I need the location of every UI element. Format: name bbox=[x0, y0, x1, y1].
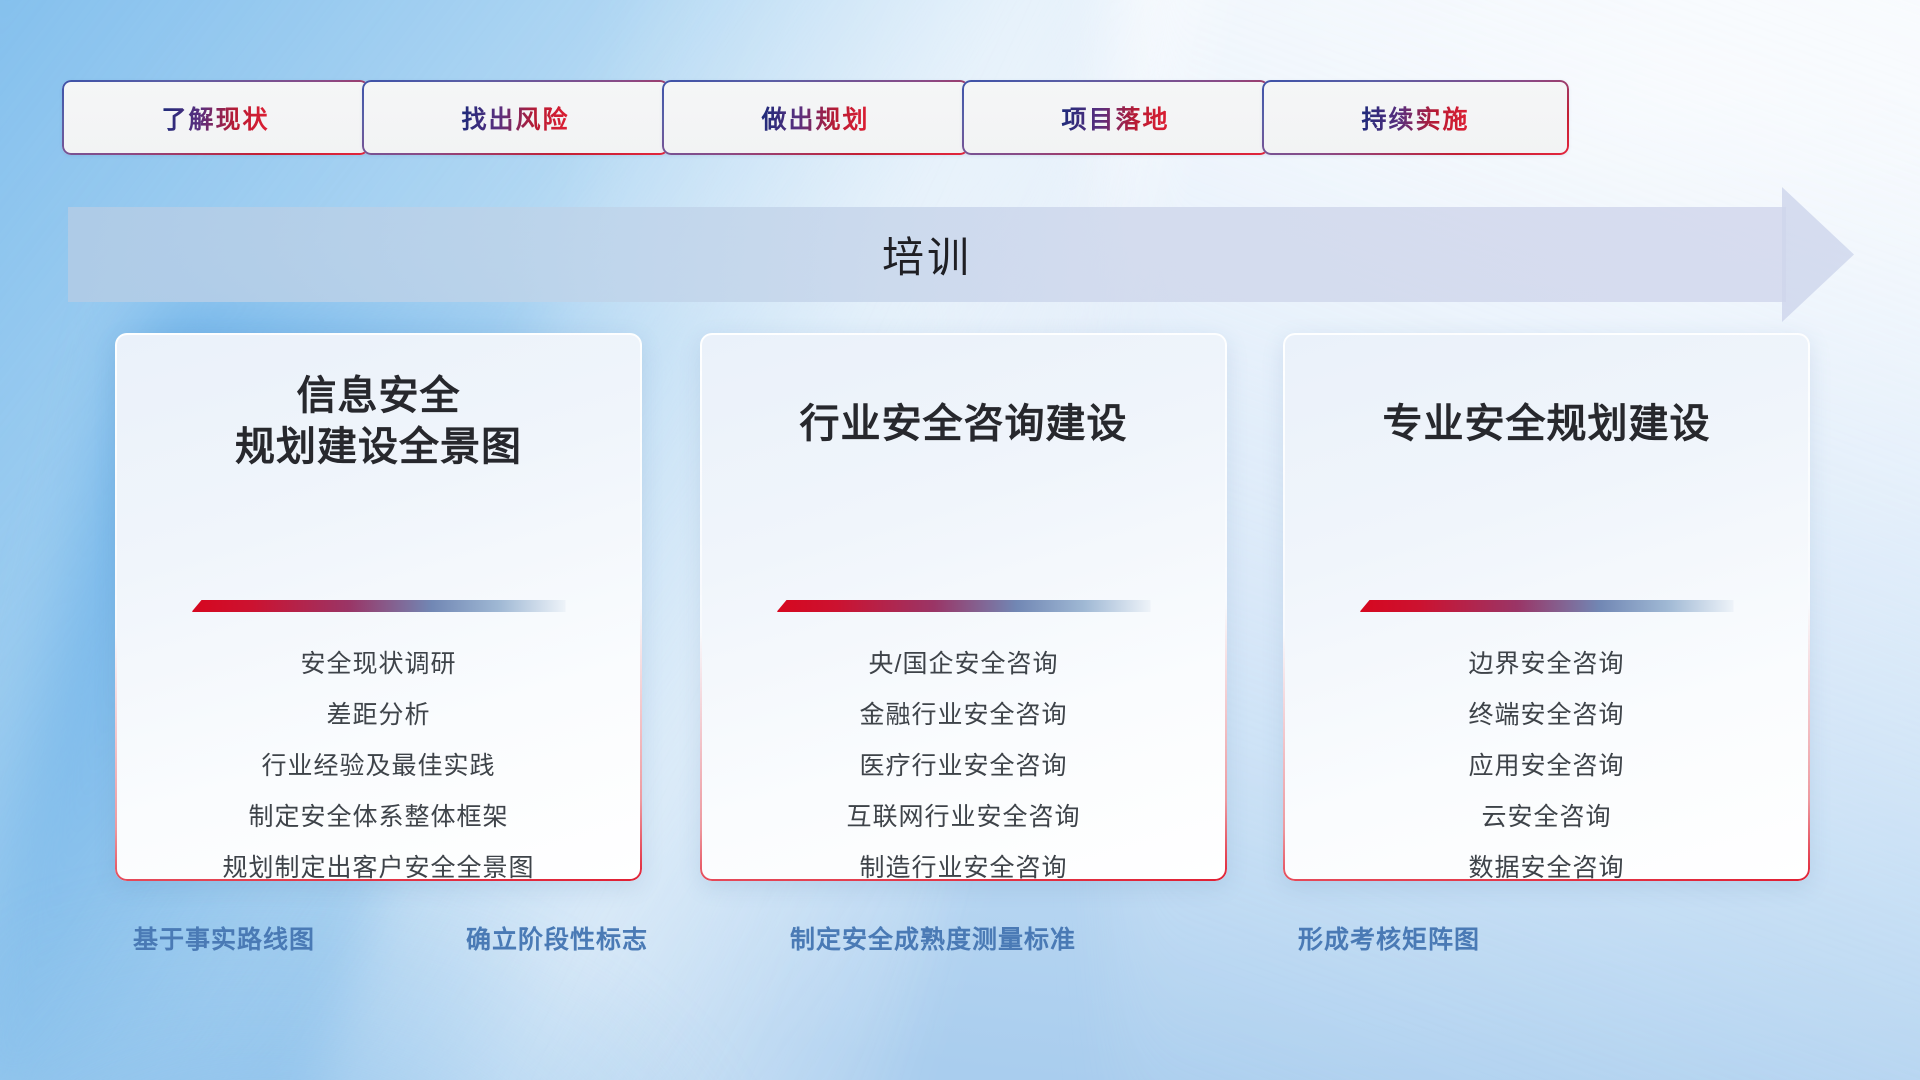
card-2-title: 行业安全咨询建设 bbox=[800, 399, 1128, 450]
caption-4: 形成考核矩阵图 bbox=[1298, 920, 1480, 956]
card-3-divider bbox=[1360, 600, 1734, 612]
step-label-5: 持续实施 bbox=[1361, 100, 1469, 136]
card-1[interactable]: 信息安全 规划建设全景图 安全现状调研 差距分析 行业经验及最佳实践 制定安全体… bbox=[115, 333, 642, 881]
list-item: 央/国企安全咨询 bbox=[869, 652, 1059, 677]
list-item: 互联网行业安全咨询 bbox=[846, 805, 1080, 830]
step-box-4[interactable]: 项目落地 bbox=[962, 80, 1269, 155]
list-item: 安全现状调研 bbox=[300, 652, 456, 677]
list-item: 数据安全咨询 bbox=[1468, 856, 1624, 881]
card-2-list: 央/国企安全咨询 金融行业安全咨询 医疗行业安全咨询 互联网行业安全咨询 制造行… bbox=[726, 652, 1201, 881]
caption-2: 确立阶段性标志 bbox=[466, 920, 648, 956]
list-item: 差距分析 bbox=[326, 703, 430, 728]
caption-1: 基于事实路线图 bbox=[133, 920, 315, 956]
list-item: 制造行业安全咨询 bbox=[859, 856, 1067, 881]
step-label-4: 项目落地 bbox=[1061, 100, 1169, 136]
card-2[interactable]: 行业安全咨询建设 央/国企安全咨询 金融行业安全咨询 医疗行业安全咨询 互联网行… bbox=[700, 333, 1227, 881]
list-item: 应用安全咨询 bbox=[1468, 754, 1624, 779]
card-1-title: 信息安全 规划建设全景图 bbox=[235, 371, 522, 473]
card-3-list: 边界安全咨询 终端安全咨询 应用安全咨询 云安全咨询 数据安全咨询 bbox=[1309, 652, 1784, 881]
card-3-title: 专业安全规划建设 bbox=[1383, 399, 1711, 450]
card-1-divider bbox=[192, 600, 566, 612]
card-1-list: 安全现状调研 差距分析 行业经验及最佳实践 制定安全体系整体框架 规划制定出客户… bbox=[141, 652, 616, 881]
step-label-3: 做出规划 bbox=[761, 100, 869, 136]
step-box-5[interactable]: 持续实施 bbox=[1262, 80, 1569, 155]
step-label-1: 了解现状 bbox=[161, 100, 269, 136]
step-box-1[interactable]: 了解现状 bbox=[62, 80, 369, 155]
caption-3: 制定安全成熟度测量标准 bbox=[790, 920, 1076, 956]
list-item: 医疗行业安全咨询 bbox=[859, 754, 1067, 779]
training-banner: 培训 bbox=[68, 207, 1854, 302]
banner-arrow-head bbox=[1782, 187, 1854, 322]
list-item: 行业经验及最佳实践 bbox=[261, 754, 495, 779]
card-3[interactable]: 专业安全规划建设 边界安全咨询 终端安全咨询 应用安全咨询 云安全咨询 数据安全… bbox=[1283, 333, 1810, 881]
step-box-2[interactable]: 找出风险 bbox=[362, 80, 669, 155]
process-steps-row: 了解现状 找出风险 做出规划 项目落地 持续实施 bbox=[0, 0, 1920, 160]
step-label-2: 找出风险 bbox=[461, 100, 569, 136]
step-box-3[interactable]: 做出规划 bbox=[662, 80, 969, 155]
card-2-divider bbox=[777, 600, 1151, 612]
list-item: 金融行业安全咨询 bbox=[859, 703, 1067, 728]
banner-title: 培训 bbox=[68, 207, 1786, 302]
list-item: 制定安全体系整体框架 bbox=[248, 805, 508, 830]
list-item: 云安全咨询 bbox=[1481, 805, 1611, 830]
list-item: 边界安全咨询 bbox=[1468, 652, 1624, 677]
list-item: 规划制定出客户安全全景图 bbox=[222, 856, 534, 881]
list-item: 终端安全咨询 bbox=[1468, 703, 1624, 728]
